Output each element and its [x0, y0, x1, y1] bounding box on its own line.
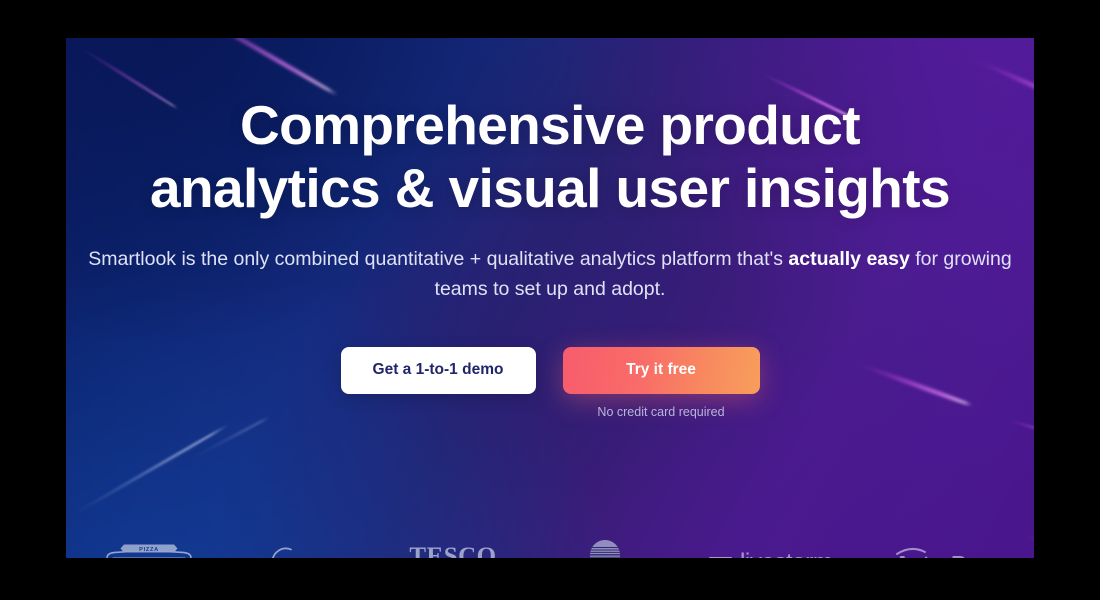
hero-subtitle-emphasis: actually easy	[788, 248, 909, 270]
cta-note: No credit card required	[597, 405, 724, 419]
logo-papa-johns: PIZZA PAPA JOHN'S	[94, 538, 204, 558]
logo-tesco: TESCO	[402, 539, 504, 558]
customer-logo-strip: PIZZA PAPA JOHN'S KIWI COM	[66, 536, 1034, 558]
hero-subtitle-part1: Smartlook is the only combined quantitat…	[88, 248, 783, 270]
logo-kiwi-com: KIWI COM	[253, 540, 353, 558]
try-it-free-button[interactable]: Try it free	[563, 347, 760, 394]
page-title: Comprehensive product analytics & visual…	[66, 94, 1034, 219]
hero-subtitle: Smartlook is the only combined quantitat…	[66, 245, 1034, 304]
screenshot-canvas: Comprehensive product analytics & visual…	[0, 0, 1100, 600]
svg-text:livestorm: livestorm	[740, 549, 832, 558]
svg-text:KIWI: KIWI	[269, 556, 299, 558]
get-demo-button[interactable]: Get a 1-to-1 demo	[341, 347, 536, 394]
logo-livestorm: livestorm	[707, 542, 843, 558]
svg-text:PIZZA: PIZZA	[139, 547, 159, 553]
svg-text:TESCO: TESCO	[409, 543, 496, 558]
hero-content: Comprehensive product analytics & visual…	[66, 94, 1034, 558]
svg-text:AstroPay: AstroPay	[894, 551, 991, 558]
logo-konica-minolta: KONICA MINOLTA	[552, 536, 658, 558]
logo-astropay: AstroPay	[892, 541, 1004, 558]
hero-section: Comprehensive product analytics & visual…	[66, 38, 1034, 558]
cta-row: Get a 1-to-1 demo Try it free No credit …	[66, 347, 1034, 419]
comet-streak-icon	[173, 38, 340, 97]
svg-text:COM: COM	[316, 556, 348, 558]
try-free-group: Try it free No credit card required	[563, 347, 760, 419]
